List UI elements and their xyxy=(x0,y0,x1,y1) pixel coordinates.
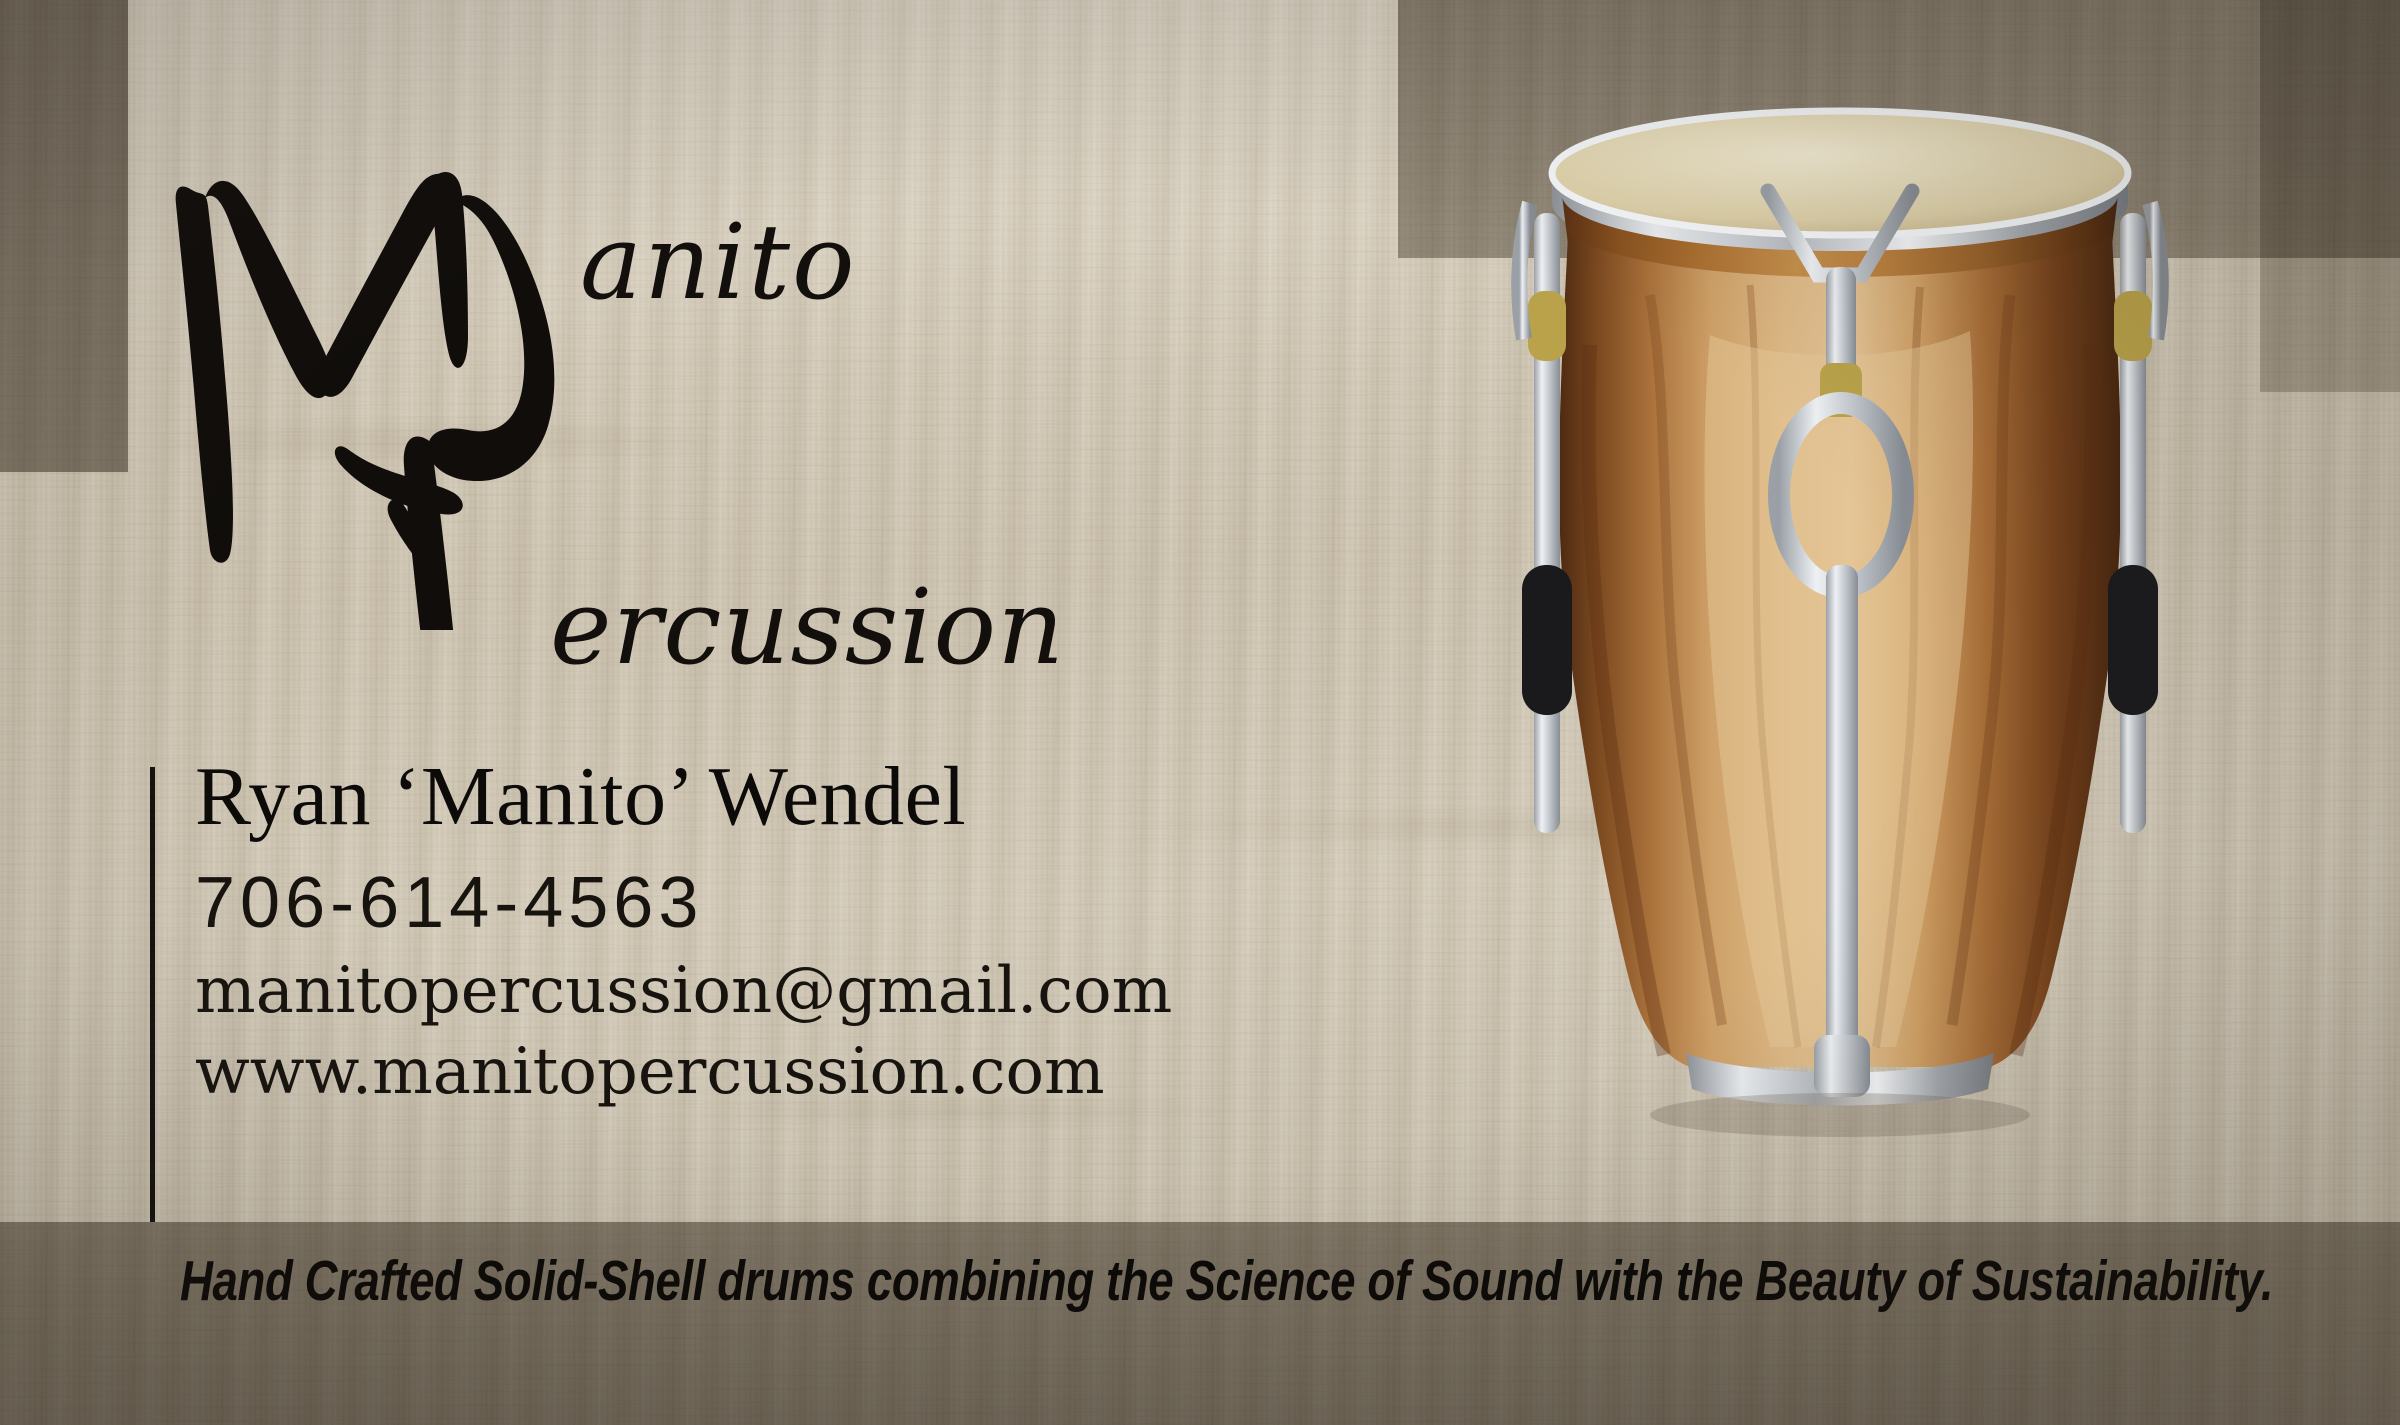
logo-word-anito: anito xyxy=(580,210,857,314)
conga-drum-photo xyxy=(1500,95,2180,1225)
dark-panel-top-left xyxy=(0,0,128,472)
phone-number[interactable]: 706-614-4563 xyxy=(195,861,1400,946)
website-url[interactable]: www.manitopercussion.com xyxy=(195,1035,1400,1111)
tagline: Hand Crafted Solid-Shell drums combining… xyxy=(180,1248,1884,1314)
brand-logo: anito ercussion xyxy=(150,70,1170,630)
logo-word-ercussion: ercussion xyxy=(550,575,1065,679)
email-address[interactable]: manitopercussion@gmail.com xyxy=(195,954,1400,1030)
person-name: Ryan ‘Manito’ Wendel xyxy=(195,755,1400,839)
business-card: anito ercussion Ryan ‘Manito’ Wendel 706… xyxy=(0,0,2400,1425)
contact-block: Ryan ‘Manito’ Wendel 706-614-4563 manito… xyxy=(150,755,1400,1111)
dark-panel-right-edge xyxy=(2260,0,2400,392)
drum-shadow xyxy=(1650,1093,2030,1137)
brush-stroke-mp-monogram xyxy=(150,70,1170,630)
vertical-divider-line xyxy=(150,767,155,1222)
